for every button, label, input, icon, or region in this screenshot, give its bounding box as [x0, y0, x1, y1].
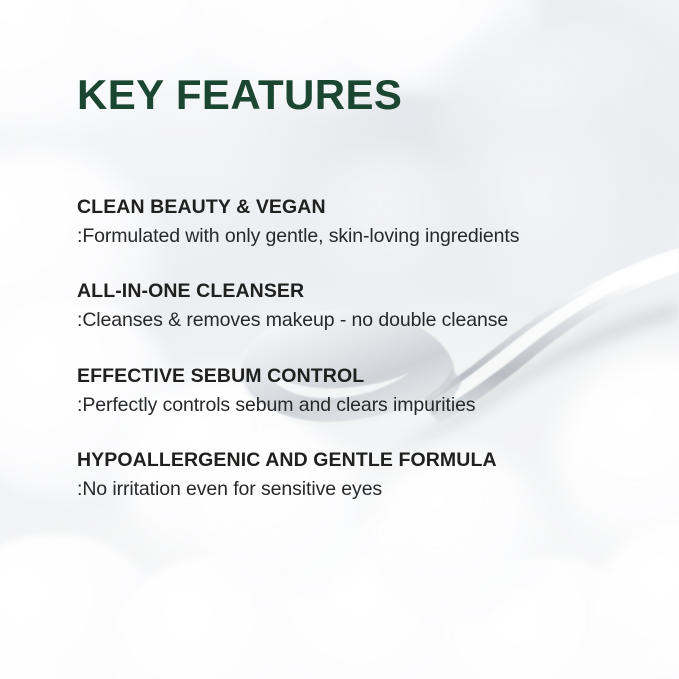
feature-item-all-in-one-cleanser: ALL-IN-ONE CLEANSER :Cleanses & removes …: [77, 279, 637, 333]
feature-description: :Formulated with only gentle, skin-lovin…: [77, 224, 637, 249]
feature-title: HYPOALLERGENIC AND GENTLE FORMULA: [77, 448, 637, 473]
feature-item-effective-sebum-control: EFFECTIVE SEBUM CONTROL :Perfectly contr…: [77, 364, 637, 418]
feature-description: :No irritation even for sensitive eyes: [77, 477, 637, 502]
feature-title: ALL-IN-ONE CLEANSER: [77, 279, 637, 304]
key-features-infographic: KEY FEATURES CLEAN BEAUTY & VEGAN :Formu…: [0, 0, 679, 679]
content-area: KEY FEATURES CLEAN BEAUTY & VEGAN :Formu…: [0, 0, 679, 679]
page-title: KEY FEATURES: [77, 74, 402, 116]
feature-item-clean-beauty-vegan: CLEAN BEAUTY & VEGAN :Formulated with on…: [77, 195, 637, 249]
feature-list: CLEAN BEAUTY & VEGAN :Formulated with on…: [77, 195, 637, 502]
feature-title: CLEAN BEAUTY & VEGAN: [77, 195, 637, 220]
feature-description: :Perfectly controls sebum and clears imp…: [77, 393, 637, 418]
feature-item-hypoallergenic-gentle-formula: HYPOALLERGENIC AND GENTLE FORMULA :No ir…: [77, 448, 637, 502]
feature-description: :Cleanses & removes makeup - no double c…: [77, 308, 637, 333]
feature-title: EFFECTIVE SEBUM CONTROL: [77, 364, 637, 389]
